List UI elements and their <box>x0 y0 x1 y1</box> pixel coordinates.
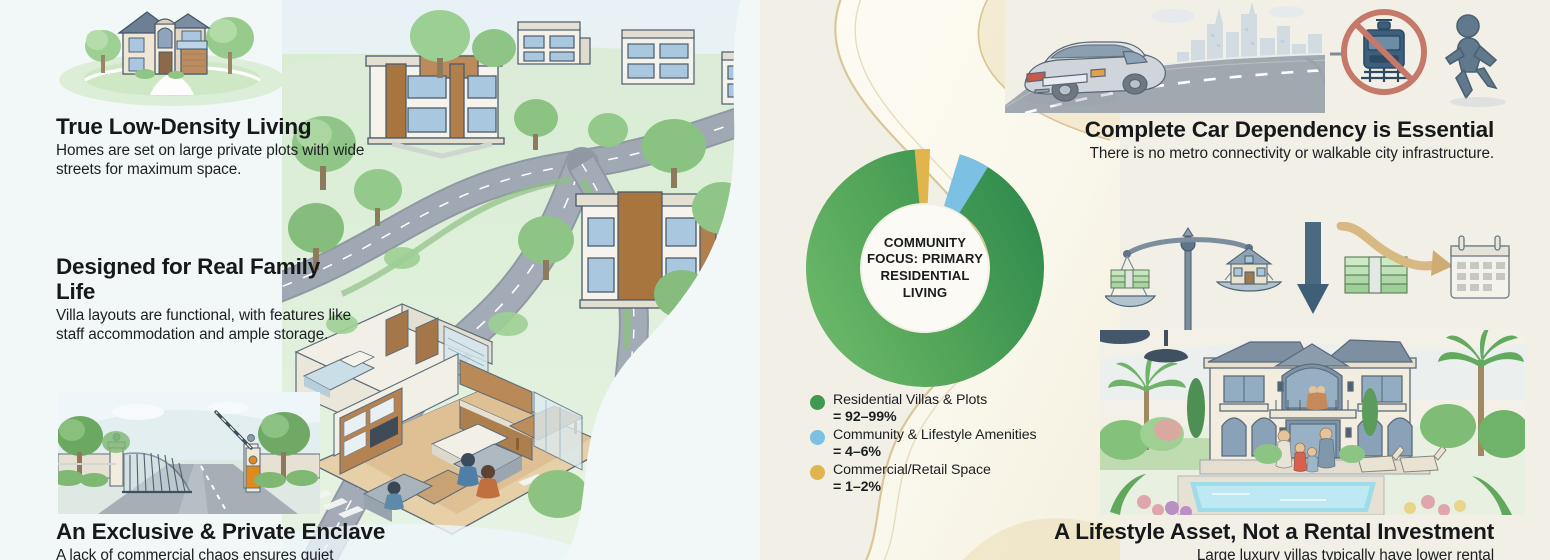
infographic-canvas: COMMUNITY FOCUS: PRIMARY RESIDENTIAL LIV… <box>0 0 1550 560</box>
heading-car-dependency: Complete Car Dependency is Essential <box>1074 118 1494 143</box>
feature-block-car-dependency: Complete Car Dependency is Essential The… <box>1074 118 1494 164</box>
legend-value-commercial: = 1–2% <box>833 479 991 496</box>
heading-family-life: Designed for Real Family Life <box>56 255 356 305</box>
no-metro-train-icon <box>1344 12 1424 92</box>
down-arrow-icon <box>1297 222 1329 314</box>
legend-item-amenities: Community & Lifestyle Amenities = 4–6% <box>810 427 1072 461</box>
pedestrian-walking-icon <box>1446 15 1496 98</box>
no-metro-train-and-pedestrian-icons <box>1330 2 1545 112</box>
chart-legend: Residential Villas & Plots = 92–99% Comm… <box>810 392 1072 497</box>
legend-color-swatch-green <box>810 395 825 410</box>
body-car-dependency: There is no metro connectivity or walkab… <box>1074 145 1494 164</box>
legend-color-swatch-blue <box>810 430 825 445</box>
heading-low-density: True Low-Density Living <box>56 115 396 140</box>
legend-color-swatch-gold <box>810 465 825 480</box>
gated-community-entrance-with-barrier-illustration <box>58 392 320 514</box>
donut-chart: COMMUNITY FOCUS: PRIMARY RESIDENTIAL LIV… <box>795 138 1055 398</box>
feature-block-low-density: True Low-Density Living Homes are set on… <box>56 115 396 179</box>
feature-block-private-enclave: An Exclusive & Private Enclave A lack of… <box>56 520 416 560</box>
feature-block-lifestyle-asset: A Lifestyle Asset, Not a Rental Investme… <box>1044 520 1494 560</box>
aerial-villa-neighbourhood-with-cutaway-interior-illustration <box>282 0 782 560</box>
heading-private-enclave: An Exclusive & Private Enclave <box>56 520 416 545</box>
suburban-house-on-lawn-illustration <box>55 0 290 108</box>
legend-item-residential: Residential Villas & Plots = 92–99% <box>810 392 1072 426</box>
donut-center-label: COMMUNITY FOCUS: PRIMARY RESIDENTIAL LIV… <box>862 205 988 331</box>
calendar-icon <box>1451 236 1509 298</box>
body-low-density: Homes are set on large private plots wit… <box>56 142 396 179</box>
body-private-enclave: A lack of commercial chaos ensures quiet <box>56 547 416 560</box>
legend-label-residential: Residential Villas & Plots <box>833 392 987 408</box>
body-family-life: Villa layouts are functional, with featu… <box>56 307 356 344</box>
heading-lifestyle-asset: A Lifestyle Asset, Not a Rental Investme… <box>1044 520 1494 545</box>
sedan-car-on-highway-with-city-skyline-illustration <box>1005 0 1325 113</box>
balance-scale-icon <box>1105 228 1281 332</box>
legend-item-commercial: Commercial/Retail Space = 1–2% <box>810 462 1072 496</box>
feature-block-family-life: Designed for Real Family Life Villa layo… <box>56 255 356 344</box>
luxury-villa-with-pool-and-family-illustration <box>1100 330 1525 515</box>
scales-money-versus-house-declining-returns-illustration <box>1105 222 1515 337</box>
legend-label-amenities: Community & Lifestyle Amenities <box>833 427 1036 443</box>
body-lifestyle-asset: Large luxury villas typically have lower… <box>1044 547 1494 560</box>
legend-value-amenities: = 4–6% <box>833 444 1036 461</box>
legend-value-residential: = 92–99% <box>833 409 987 426</box>
legend-label-commercial: Commercial/Retail Space <box>833 462 991 478</box>
donut-center-text: COMMUNITY FOCUS: PRIMARY RESIDENTIAL LIV… <box>862 235 988 302</box>
